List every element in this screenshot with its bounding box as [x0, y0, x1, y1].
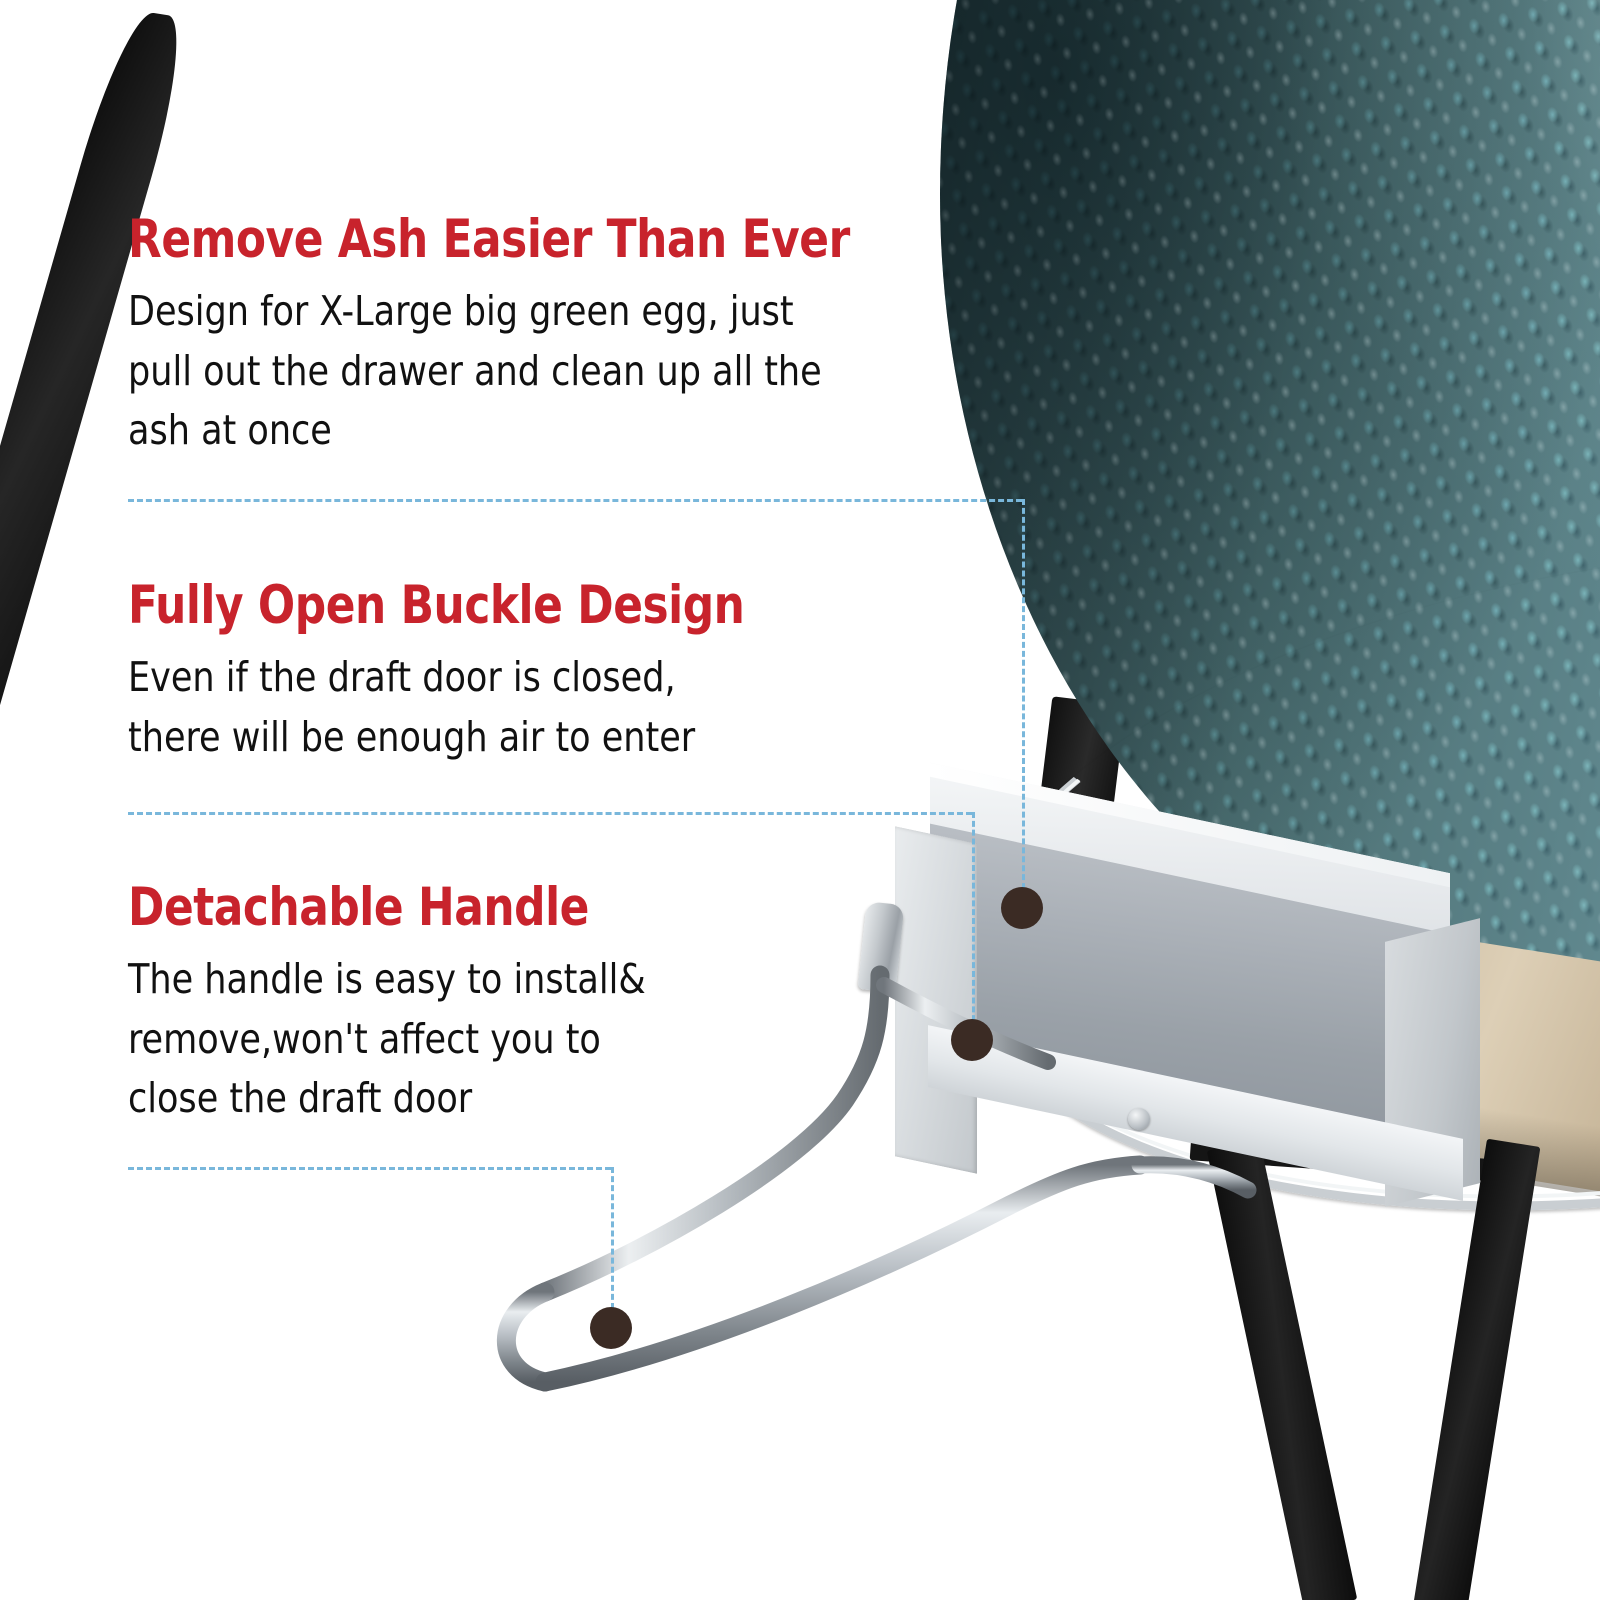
feature-3-heading: Detachable Handle [128, 880, 892, 936]
feature-3-body-line-2: remove,won't affect you to [128, 1015, 601, 1063]
leader-line-1-horizontal [128, 499, 1022, 502]
leader-dot-2 [951, 1019, 993, 1061]
leader-line-3-horizontal [128, 1167, 611, 1170]
feature-1-body-line-1: Design for X-Large big green egg, just [128, 287, 794, 335]
feature-1-body-line-2: pull out the drawer and clean up all the [128, 347, 822, 395]
leader-line-3-vertical [611, 1167, 614, 1318]
infographic-canvas: Remove Ash Easier Than Ever Design for X… [0, 0, 1600, 1600]
feature-block-detachable-handle: Detachable Handle The handle is easy to … [128, 880, 958, 1129]
callout-overlay: Remove Ash Easier Than Ever Design for X… [0, 0, 1600, 1600]
feature-3-body-line-1: The handle is easy to install& [128, 955, 646, 1003]
feature-3-body: The handle is easy to install& remove,wo… [128, 950, 917, 1130]
feature-1-body-line-3: ash at once [128, 406, 332, 454]
feature-2-heading: Fully Open Buckle Design [128, 578, 892, 634]
feature-1-heading: Remove Ash Easier Than Ever [128, 212, 892, 268]
leader-dot-1 [1001, 887, 1043, 929]
leader-line-2-vertical [972, 812, 975, 1030]
feature-2-body: Even if the draft door is closed, there … [128, 648, 917, 768]
leader-line-2-horizontal [128, 812, 972, 815]
feature-block-fully-open-buckle: Fully Open Buckle Design Even if the dra… [128, 578, 958, 767]
leader-line-1-vertical [1022, 499, 1025, 898]
feature-block-remove-ash: Remove Ash Easier Than Ever Design for X… [128, 212, 958, 461]
feature-1-body: Design for X-Large big green egg, just p… [128, 282, 917, 462]
feature-2-body-line-2: there will be enough air to enter [128, 713, 695, 761]
feature-3-body-line-3: close the draft door [128, 1074, 472, 1122]
leader-dot-3 [590, 1307, 632, 1349]
feature-2-body-line-1: Even if the draft door is closed, [128, 653, 676, 701]
